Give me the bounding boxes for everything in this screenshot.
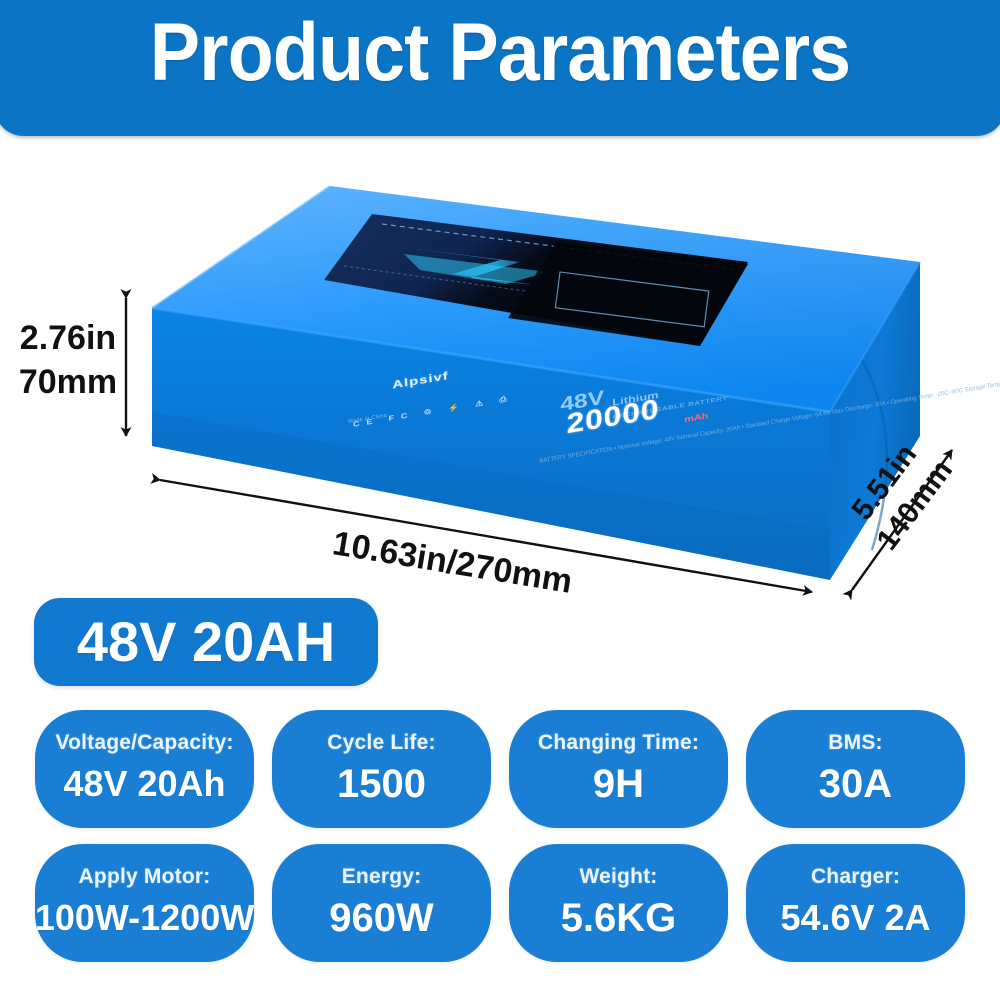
capacity-badge-text: 48V 20AH [77,614,335,670]
spec-pill-charger: Charger: 54.6V 2A [746,844,965,962]
spec-label: Apply Motor: [79,864,211,890]
spec-value: 30A [819,760,892,808]
spec-value: 54.6V 2A [780,894,930,942]
spec-pill-energy: Energy: 960W [272,844,491,962]
spec-label: Weight: [580,864,658,890]
spec-pill-bms: BMS: 30A [746,710,965,828]
height-mm: 70mm [10,360,126,404]
spec-label: Voltage/Capacity: [55,730,233,756]
header-banner: Product Parameters [0,0,1000,136]
spec-pill-changing-time: Changing Time: 9H [509,710,728,828]
spec-pill-cycle-life: Cycle Life: 1500 [272,710,491,828]
spec-pill-weight: Weight: 5.6KG [509,844,728,962]
page-title: Product Parameters [34,4,965,102]
height-dimension-label: 2.76in 70mm [10,316,126,404]
spec-value: 1500 [337,760,426,808]
spec-pill-voltage-capacity: Voltage/Capacity: 48V 20Ah [35,710,254,828]
product-image: Alpsivf 48V Lithium RECHARGEABLE BATTERY… [0,150,1000,610]
spec-value: 48V 20Ah [63,760,225,808]
spec-label: Charger: [811,864,900,890]
capacity-badge: 48V 20AH [34,598,378,686]
spec-value: 5.6KG [561,894,677,942]
spec-pill-apply-motor: Apply Motor: 100W-1200W [35,844,254,962]
spec-label: Changing Time: [538,730,699,756]
spec-label: BMS: [828,730,882,756]
spec-label: Energy: [342,864,422,890]
height-inches: 2.76in [10,316,126,360]
spec-value: 960W [329,894,434,942]
battery-3d-illustration [0,150,1000,610]
spec-grid: Voltage/Capacity: 48V 20Ah Cycle Life: 1… [35,710,965,962]
spec-value: 100W-1200W [35,894,254,942]
spec-value: 9H [593,760,644,808]
spec-label: Cycle Life: [327,730,435,756]
